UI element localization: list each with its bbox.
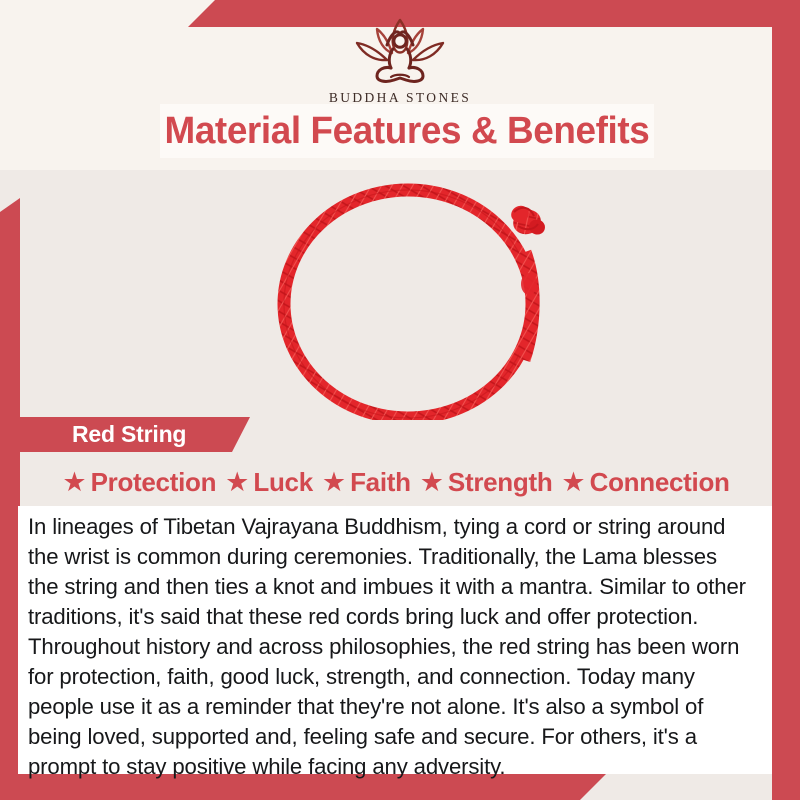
feature-item-protection: ★ Protection <box>62 467 216 498</box>
feature-label: Strength <box>448 467 552 498</box>
star-icon: ★ <box>62 469 86 496</box>
feature-label: Faith <box>350 467 411 498</box>
star-icon: ★ <box>561 469 585 496</box>
decorative-band-left <box>0 198 20 800</box>
description-paragraph: In lineages of Tibetan Vajrayana Buddhis… <box>28 512 749 782</box>
infographic-card: BUDDHA STONES Material Features & Benefi… <box>0 0 800 800</box>
product-tag-banner: Red String <box>20 417 250 452</box>
page-title: Material Features & Benefits <box>165 110 650 153</box>
description-panel: In lineages of Tibetan Vajrayana Buddhis… <box>18 506 772 774</box>
feature-label: Protection <box>91 467 217 498</box>
brand-header: BUDDHA STONES <box>0 14 800 106</box>
star-icon: ★ <box>322 469 346 496</box>
product-photo <box>20 170 772 420</box>
lotus-meditation-figure-icon <box>337 14 463 88</box>
title-banner: Material Features & Benefits <box>160 104 654 158</box>
feature-item-faith: ★ Faith <box>322 467 411 498</box>
product-tag-label: Red String <box>20 421 186 448</box>
feature-item-connection: ★ Connection <box>561 467 729 498</box>
feature-label: Luck <box>253 467 312 498</box>
star-icon: ★ <box>420 469 444 496</box>
feature-item-luck: ★ Luck <box>225 467 313 498</box>
features-list: ★ Protection ★ Luck ★ Faith ★ Strength ★… <box>20 462 772 502</box>
red-braided-string-bracelet-photo <box>248 174 588 420</box>
star-icon: ★ <box>225 469 249 496</box>
feature-label: Connection <box>590 467 730 498</box>
feature-item-strength: ★ Strength <box>420 467 553 498</box>
decorative-band-right <box>772 0 800 800</box>
